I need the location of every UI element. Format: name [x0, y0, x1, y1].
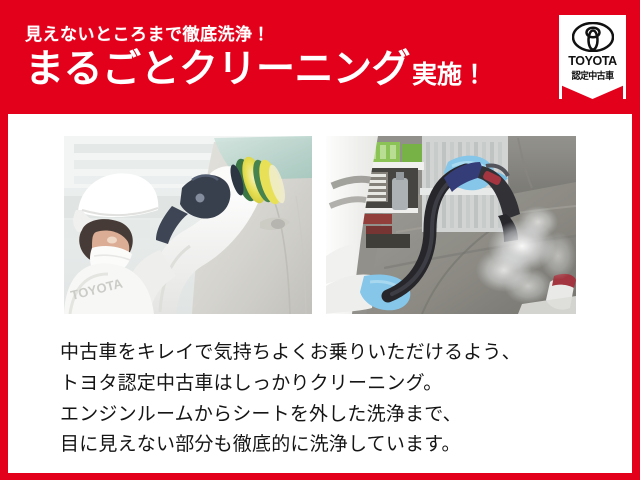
sub-headline: 見えないところまで徹底洗浄！ — [25, 24, 525, 45]
copy-line: 目に見えない部分も徹底的に洗浄しています。 — [60, 430, 600, 461]
copy-line: トヨタ認定中古車はしっかりクリーニング。 — [60, 369, 600, 400]
banner-header: 見えないところまで徹底洗浄！ まるごとクリーニング 実施！ TOYOTA 認定中… — [0, 0, 640, 114]
main-headline-tail: 実施！ — [412, 63, 487, 91]
logo-certification-label: 認定中古車 — [562, 69, 623, 83]
photo-exterior-polishing-art: TOYOTA — [64, 136, 312, 314]
headline-block: 見えないところまで徹底洗浄！ まるごとクリーニング 実施！ — [25, 24, 525, 91]
main-headline-row: まるごとクリーニング 実施！ — [25, 49, 525, 91]
content-card: TOYOTA — [8, 114, 632, 473]
photo-interior-steam-cleaning-art — [326, 136, 576, 314]
toyota-ellipse-emblem — [572, 22, 614, 52]
main-headline: まるごとクリーニング — [25, 49, 410, 91]
logo-chevron-shape — [562, 80, 623, 99]
toyota-certified-logo: TOYOTA 認定中古車 — [559, 15, 626, 99]
photo-interior-steam-cleaning — [326, 136, 576, 314]
logo-panel: TOYOTA 認定中古車 — [562, 18, 623, 99]
copy-line: エンジンルームからシートを外した洗浄まで、 — [60, 400, 600, 431]
promotional-banner: 見えないところまで徹底洗浄！ まるごとクリーニング 実施！ TOYOTA 認定中… — [0, 0, 640, 480]
logo-wordmark: TOYOTA — [562, 54, 623, 68]
body-copy: 中古車をキレイで気持ちよくお乗りいただけるよう、 トヨタ認定中古車はしっかりクリ… — [60, 338, 600, 461]
copy-line: 中古車をキレイで気持ちよくお乗りいただけるよう、 — [60, 338, 600, 369]
photo-row: TOYOTA — [64, 136, 576, 314]
photo-exterior-polishing: TOYOTA — [64, 136, 312, 314]
